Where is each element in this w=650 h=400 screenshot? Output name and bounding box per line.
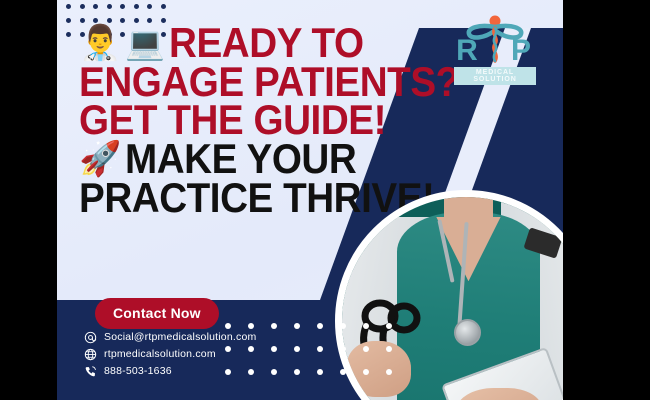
dot-grid-photo-overlay bbox=[225, 323, 409, 392]
rtp-logo-icon: R P bbox=[449, 14, 541, 66]
health-worker-icon: 👨‍⚕️ bbox=[79, 26, 121, 60]
rocket-icon: 🚀 bbox=[79, 142, 121, 176]
svg-text:R: R bbox=[456, 34, 478, 66]
poster-canvas: 👨‍⚕️ 💻 READY TO ENGAGE PATIENTS? GET THE… bbox=[57, 0, 563, 400]
laptop-icon: 💻 bbox=[125, 27, 165, 59]
contact-phone-text: 888-503-1636 bbox=[104, 366, 172, 378]
letterbox-bar-right bbox=[563, 0, 650, 400]
at-sign-icon bbox=[84, 331, 97, 344]
logo-tagline: MEDICAL SOLUTION bbox=[454, 67, 536, 85]
poster-screenshot: 👨‍⚕️ 💻 READY TO ENGAGE PATIENTS? GET THE… bbox=[0, 0, 650, 400]
svg-text:P: P bbox=[511, 34, 531, 66]
globe-icon bbox=[84, 348, 97, 361]
headline-block: 👨‍⚕️ 💻 READY TO ENGAGE PATIENTS? GET THE… bbox=[79, 24, 439, 217]
contact-website-text: rtpmedicalsolution.com bbox=[104, 349, 216, 361]
phone-icon bbox=[84, 365, 97, 378]
photo-stethoscope-bell bbox=[454, 319, 481, 346]
brand-logo: R P MEDICAL SOLUTION bbox=[449, 14, 541, 85]
letterbox-bar-left bbox=[0, 0, 57, 400]
contact-now-button[interactable]: Contact Now bbox=[95, 298, 219, 329]
logo-mark: R P bbox=[449, 14, 541, 66]
